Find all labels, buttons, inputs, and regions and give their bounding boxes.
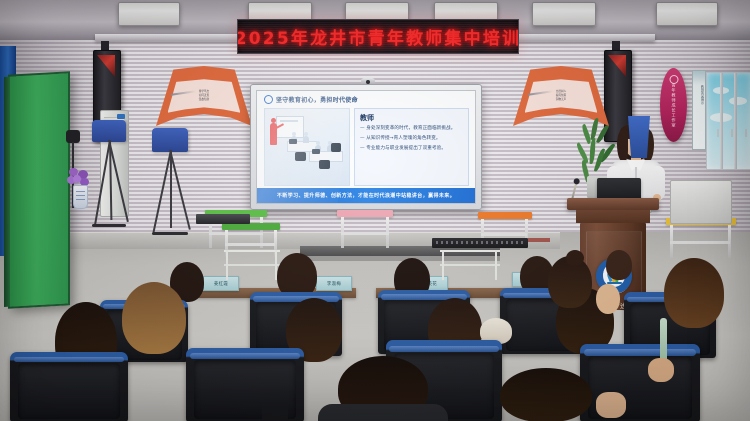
camera-tripod-right [148, 128, 192, 236]
oval-wall-sign: 青年教师成长工作室 [660, 68, 687, 142]
presenter-hair-left [617, 130, 628, 162]
attendee-head-front-2 [500, 368, 592, 421]
tripod-dolly-left [92, 224, 126, 227]
name-card-2-text: 李淑梅 [327, 281, 341, 287]
purple-flower-vase [66, 168, 94, 210]
slide-footer-banner: 不断学习、提升师德、创新方法，才能在时代浪潮中站稳讲台，赢得未来。 [257, 188, 475, 203]
camera-cover-left [92, 120, 126, 142]
projection-screen-frame: 坚守教育初心，勇担时代使命 [250, 84, 482, 210]
tripod-dolly-right [152, 232, 188, 235]
fan-wall-art-left: 博学笃志 切问近思 温故知新 [156, 66, 252, 126]
attendee-phone[interactable] [262, 404, 288, 421]
green-screen-backdrop [8, 71, 70, 308]
blue-cloth-cover [628, 116, 650, 158]
fan-right-line-3: 润物无声 [532, 98, 590, 102]
white-rail-left [224, 250, 280, 280]
slide-card-heading: 教师 [360, 113, 463, 123]
slide-bullet-1: — 身处深刻变革的时代，教育正面临新挑战。 [360, 126, 463, 133]
slide-bullet-icon [264, 95, 273, 104]
attendee-shoulder-front [318, 404, 448, 421]
attendee-head-mid-6 [664, 258, 724, 328]
fan-wall-art-right: 立德树人 春风化雨 润物无声 [513, 66, 609, 126]
attendee-head-far-5 [606, 250, 632, 280]
oval-sign-emblem [669, 75, 678, 84]
slide-bullet-3: — 专业能力与职业发展提出了双重考验。 [360, 146, 463, 153]
name-card-1-text: 姜红霞 [214, 281, 228, 287]
illustration-teacher-figure [270, 123, 277, 145]
table-yellow [666, 218, 736, 258]
stage-monitor [196, 214, 250, 224]
attendee-hand-front [596, 392, 626, 418]
projection-screen: 坚守教育初心，勇担时代使命 [256, 90, 476, 204]
camera-cover-right [152, 128, 188, 152]
av-control-console [432, 238, 528, 248]
slide-body: 教师 — 身处深刻变革的时代，教育正面临新挑战。 — 从知识传授→育人塑魂的角色… [257, 106, 475, 188]
led-banner-text: 2025年龙井市青年教师集中培训 [237, 24, 519, 49]
oval-sign-text: 青年教师成长工作室 [671, 83, 677, 128]
window-right [706, 72, 750, 170]
fan-left-line-3: 温故知新 [175, 98, 233, 102]
podium-neck [576, 210, 650, 223]
slide-bullet-2: — 从知识传授→育人塑魂的角色转变。 [360, 136, 463, 143]
ceiling-light-6 [656, 2, 718, 26]
white-rail-right [440, 250, 500, 280]
ceiling-light-5 [532, 2, 596, 26]
camera-tripod-left [88, 120, 130, 230]
classroom-illustration [264, 108, 350, 186]
attendee-hair-bun [566, 250, 584, 266]
equipment-rack-right [670, 180, 732, 224]
slide-footer-text: 不断学习、提升师德、创新方法，才能在时代浪潮中站稳讲台，赢得未来。 [277, 192, 455, 199]
podium-top [567, 198, 659, 210]
attendee-face-right [596, 284, 620, 314]
attendee-head-mid-2 [122, 282, 186, 354]
table-pink [337, 210, 393, 248]
slide-title-row: 坚守教育初心，勇担时代使命 [257, 91, 475, 106]
chair-front-1[interactable] [10, 352, 128, 421]
ceiling-light-1 [118, 2, 180, 26]
slide-content-card: 教师 — 身处深刻变革的时代，教育正面临新挑战。 — 从知识传授→育人塑魂的角色… [354, 108, 469, 186]
name-card-2: 李淑梅 [316, 276, 352, 291]
auditorium-photo: 2025年龙井市青年教师集中培训 博学笃志 切问近思 温故知新 立德树人 春风化… [0, 0, 750, 421]
led-banner: 2025年龙井市青年教师集中培训 [237, 19, 519, 54]
slim-board-text: 教师风采展示 [694, 85, 704, 104]
slim-wall-board: 教师风采展示 [692, 70, 706, 150]
slide-title: 坚守教育初心，勇担时代使命 [276, 95, 358, 104]
attendee-hand-right [648, 358, 674, 382]
